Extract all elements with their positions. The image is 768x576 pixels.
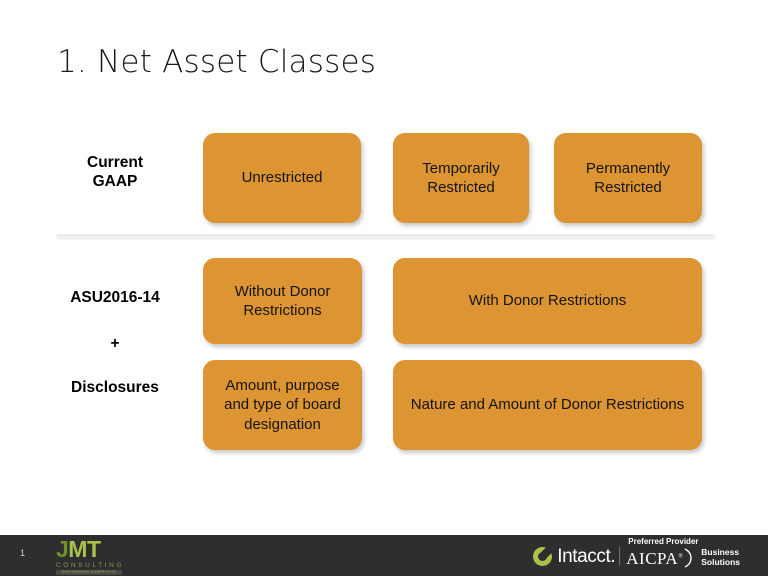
registered-mark-icon: ® (678, 553, 683, 559)
aicpa-badge: Preferred Provider AICPA® (626, 543, 696, 569)
page-number: 1 (20, 548, 25, 558)
row-label-disclosures: Disclosures (40, 378, 190, 397)
row-label-current-gaap-line1: Current (40, 153, 190, 172)
jmt-wordmark-j: J (56, 536, 68, 562)
jmt-consulting-logo: JMT CONSULTING EMPOWERING NONPROFITS (56, 538, 130, 574)
slide: 1. Net Asset Classes Current GAAP Unrest… (0, 0, 768, 576)
jmt-tagline: EMPOWERING NONPROFITS (56, 570, 122, 575)
jmt-consulting-subtitle: CONSULTING (56, 562, 130, 569)
slide-footer: 1 JMT CONSULTING EMPOWERING NONPROFITS I… (0, 535, 768, 576)
business-solutions-line2: Solutions (701, 558, 740, 568)
box-temporarily-restricted: Temporarily Restricted (393, 133, 529, 223)
intacct-aicpa-lockup: Intacct. Preferred Provider AICPA® Busin… (533, 542, 740, 570)
row-label-current-gaap-line2: GAAP (40, 172, 190, 191)
box-with-donor-restrictions: With Donor Restrictions (393, 258, 702, 344)
box-unrestricted: Unrestricted (203, 133, 361, 223)
page-title: 1. Net Asset Classes (57, 44, 376, 80)
jmt-wordmark-mt: MT (68, 536, 100, 562)
box-permanently-restricted: Permanently Restricted (554, 133, 702, 223)
row-label-plus: + (40, 334, 190, 353)
box-without-donor-restrictions: Without Donor Restrictions (203, 258, 362, 344)
intacct-logo-icon (533, 547, 552, 566)
aicpa-swoosh-icon (684, 547, 696, 569)
box-board-designation: Amount, purpose and type of board design… (203, 360, 362, 450)
aicpa-wordmark: AICPA® (626, 549, 683, 569)
intacct-wordmark: Intacct. (557, 547, 615, 566)
footer-vertical-divider (619, 546, 620, 566)
aicpa-text: AICPA (626, 549, 678, 568)
box-nature-and-amount-of-donor-restrictions: Nature and Amount of Donor Restrictions (393, 360, 702, 450)
row-label-current-gaap: Current GAAP (40, 153, 190, 192)
jmt-wordmark: JMT (56, 538, 130, 561)
section-divider (57, 234, 715, 237)
business-solutions-label: Business Solutions (701, 548, 740, 568)
row-label-asu: ASU2016-14 (40, 288, 190, 307)
preferred-provider-label: Preferred Provider (628, 537, 698, 546)
